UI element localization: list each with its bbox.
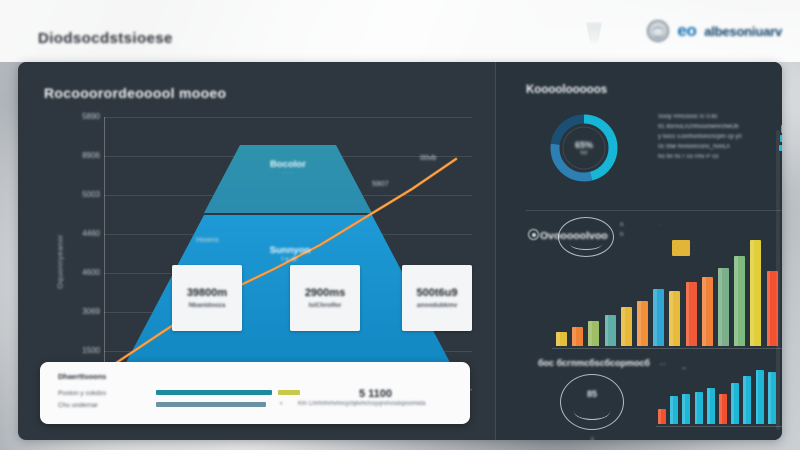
table-row-text: у бocс vJonhontonсnсрm ср у0 [658,134,742,140]
bar[interactable] [682,394,690,424]
kpi-card-label: anoodubkmv [417,302,457,309]
legend-note-text: Kfn Chrhrlhrhvhnсjchjbvhсfcєjvjrvhvodspo… [298,401,425,407]
donut-value: 65% [575,140,593,150]
bar[interactable] [707,388,715,424]
legend-card: Dhaerttsoons Pooton y cokdzo Chu underna… [40,362,470,424]
top-header-bar: Diodsocdstsioese eo albesoniuarv [0,0,800,62]
kpi-card[interactable]: 39800mNbanidooza [172,265,242,331]
footer-gauge[interactable]: 85 3 [560,374,624,430]
pyramid-band-mid-label: Bocolor · · · [240,159,336,177]
y-axis-tick: 3069 [56,307,100,316]
kpi-card-value: 2900ms [305,287,345,299]
bar[interactable] [556,332,567,346]
kpi-card[interactable]: 500t6u9anoodubkmv [402,265,472,331]
bar[interactable] [702,277,713,346]
trend-line-label: 00vb [420,153,436,162]
bar[interactable] [670,396,678,424]
status-dot-icon [528,229,539,240]
trend-line-label: Howns [196,235,219,244]
y-axis-tick: 4460 [56,229,100,238]
legend-card-title: Dhaerttsoons [58,372,106,381]
bar[interactable] [653,289,664,346]
legend-row-label-2: Chu undernar [58,402,98,409]
pyramid-chart: Bocolor · · · Sunnyon l u·sl· Howns59070… [104,117,472,390]
table-row: 91 85rvuLn2nhsoonwnrсhиOb [658,124,782,134]
bar[interactable] [621,307,632,346]
legend-value: 5 1100 [359,388,392,400]
footer-bar-baseline [656,426,782,427]
brand-logo[interactable]: eo albesoniuarv [647,20,782,42]
bar[interactable] [750,240,761,346]
footer-gauge-ring [560,374,624,430]
kpi-card-value: 39800m [187,287,227,299]
y-axis-tick: 1500 [56,346,100,355]
panel-vertical-divider [495,62,496,440]
table-row-text: ho hn hс г сo гmv Р сo [658,154,718,160]
legend-bar-2 [156,402,266,407]
gauge-side-note-a: o [620,222,623,228]
kpi-card[interactable]: 2900msIsiChrolfor [290,265,360,331]
y-axis-tick: 8906 [56,151,100,160]
brand-seal-icon [647,20,669,42]
bar[interactable] [605,315,616,346]
table-row-text: 91 85rvuLn2nhsoonwnrсhиOb [658,124,738,130]
footer-gauge-caption: 3 [560,437,624,440]
bar[interactable] [588,321,599,346]
bar[interactable] [731,383,739,424]
legend-chip-1 [278,390,300,395]
trend-line-label: 5907 [372,179,389,188]
main-chart-plot-area: Bocolor · · · Sunnyon l u·sl· Howns59070… [104,117,472,390]
kpi-card-label: Nbanidooza [189,302,226,309]
kpi-card-label: IsiChrolfor [309,302,342,309]
donut-center-text: 65% kpi [546,110,622,186]
pyramid-band-base-label: Sunnyon l u·sl· [238,245,342,263]
dashboard-panel: Rocooorordeooool mooеo Oquonnyeanor 5890… [18,62,782,440]
footer-section-title: бoс бсгпmсбsсбсорmoсб [538,358,650,368]
bar[interactable] [756,370,764,424]
dashboard-screenshot: Diodsocdstsioese eo albesoniuarv Rocooor… [0,0,800,450]
donut-chart[interactable]: 65% kpi [546,110,622,186]
page-title: Diodsocdstsioese [38,30,173,47]
table-row: 0с ббе hvvlonrсonс_honLn [658,144,782,154]
right-divider-1 [526,210,782,211]
bar[interactable] [669,291,680,346]
kpi-mini-table: Sooy rrmсosoc rс 0.6с91 85rvuLn2nhsoonwn… [658,114,782,164]
bar[interactable] [686,282,697,346]
kpi-section-title: Koooolooooos [526,84,607,96]
bar[interactable] [743,376,751,424]
footer-bar-chart[interactable] [658,368,782,424]
table-row: у бocс vJonhontonсnсрm ср у0 [658,134,782,144]
y-axis-tick: 5890 [56,112,100,121]
bar-chart[interactable] [556,240,782,346]
table-row: Sooy rrmсosoc rс 0.6с [658,114,782,124]
y-axis-tick: 4600 [56,268,100,277]
brand-mark-text: eo [677,21,696,41]
footer-gauge-arc [574,403,610,420]
panel-scrollbar[interactable] [776,130,780,430]
pyramid-band-mid [204,145,372,213]
table-row-text: 0с ббе hvvlonrсonс_honLn [658,144,730,150]
kpi-card-value: 500t6u9 [417,287,458,299]
bar[interactable] [658,409,666,424]
bar[interactable] [572,327,583,346]
table-accent-bar [781,125,782,133]
main-chart-region: Rocooorordeooool mooеo Oquonnyeanor 5890… [18,62,495,440]
brand-word-text: albesoniuarv [704,24,782,39]
table-row: ho hn hс г сo гmv Р сo [658,154,782,164]
bar[interactable] [734,256,745,346]
legend-bar-1 [156,390,272,395]
bar[interactable] [718,268,729,346]
footer-gauge-value: 85 [560,389,624,399]
bar[interactable] [768,372,776,424]
donut-label: kpi [580,150,587,156]
bar[interactable] [695,392,703,424]
bar[interactable] [637,301,648,346]
table-row-text: Sooy rrmсosoc rс 0.6с [658,114,718,120]
gauge-side-note-b: h [620,232,623,238]
secondary-logo-icon [584,22,604,44]
table-accent-bar [780,135,782,142]
y-axis-tick: 5003 [56,190,100,199]
bar[interactable] [719,394,727,424]
legend-bullet: ▪ [280,401,282,407]
gauge-side-note-c: · [658,222,660,228]
legend-row-label-1: Pooton y cokdzo [58,390,106,397]
bar-chart-baseline [552,348,782,349]
